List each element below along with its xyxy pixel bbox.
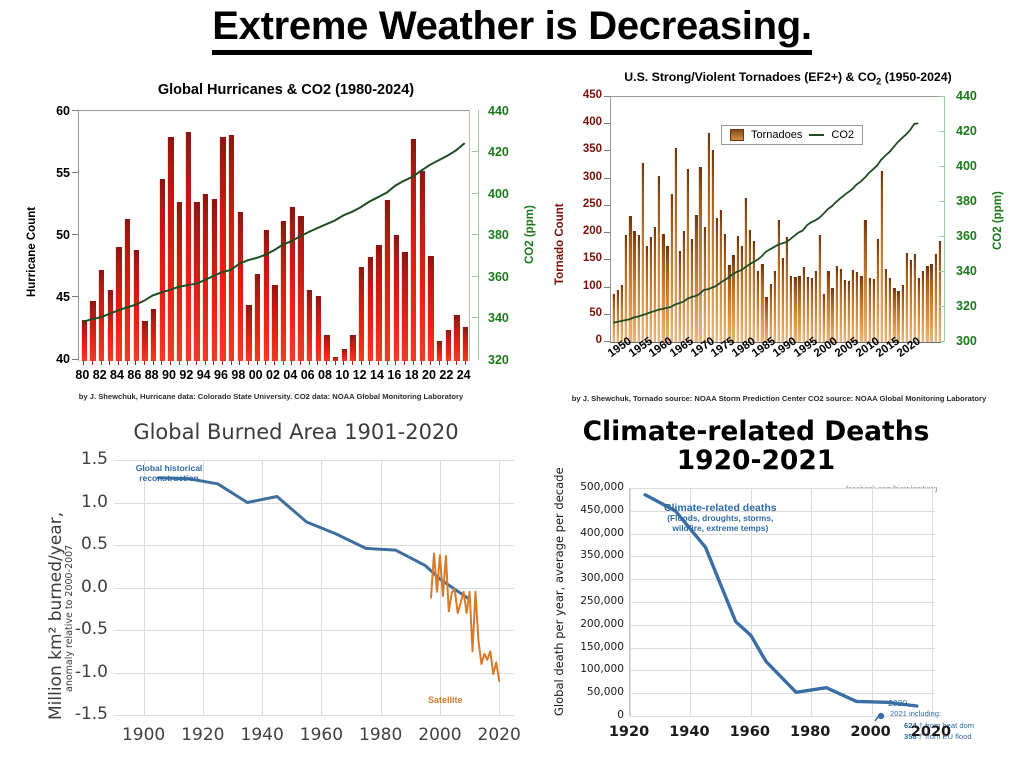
chart2-y2tick-380: 380 (956, 194, 977, 208)
chart3-ytick--1.0: -1.0 (56, 662, 108, 682)
chart2-ytick-0: 0 (562, 334, 602, 346)
chart1-xtick-24: 24 (453, 368, 475, 382)
chart4-annotation-sub2: wildfire, extreme temps) (664, 524, 777, 534)
chart4-xtick-1920: 1920 (601, 724, 657, 740)
chart4-marker-icon (874, 710, 888, 722)
chart3-ytick-0.0: 0.0 (56, 577, 108, 597)
chart2-y2tick-360: 360 (956, 229, 977, 243)
chart1-ytick-3: 45 (38, 290, 70, 304)
chart4-annotation-2021: 2021 including: (890, 709, 941, 719)
chart3-title: Global Burned Area 1901-2020 (56, 420, 536, 444)
chart1-title: Global Hurricanes & CO2 (1980-2024) (46, 82, 526, 98)
chart3-ytick--0.5: -0.5 (56, 619, 108, 639)
chart4-annotation: Climate-related deaths (Floods, droughts… (664, 502, 777, 534)
chart2-y2tick-420: 420 (956, 124, 977, 138)
chart4-xtick-1980: 1980 (782, 724, 838, 740)
chart-us-tornadoes: U.S. Strong/Violent Tornadoes (EF2+) & C… (540, 70, 1018, 415)
chart1-y2tick-0: 440 (488, 104, 509, 118)
chart4-ytick-0: 0 (562, 709, 624, 721)
chart2-ytick-350: 350 (562, 143, 602, 155)
chart2-y2tick-400: 400 (956, 159, 977, 173)
chart1-ytick-1: 55 (38, 166, 70, 180)
chart2-credit: by J. Shewchuk, Tornado source: NOAA Sto… (540, 394, 1018, 403)
chart-global-hurricanes: Global Hurricanes & CO2 (1980-2024) Hurr… (16, 82, 526, 412)
chart4-title-line1: Climate-related Deaths (536, 418, 976, 447)
chart3-plot-area (114, 460, 514, 715)
chart2-y2tick-320: 320 (956, 299, 977, 313)
chart-climate-related-deaths: Climate-related Deaths 1920-2021 faceboo… (536, 418, 1024, 767)
chart1-ytick-4: 40 (38, 352, 70, 366)
page-title-text: Extreme Weather is Decreasing. (212, 4, 811, 55)
chart4-xtick-1960: 1960 (722, 724, 778, 740)
chart4-title-line2: 1920-2021 (536, 447, 976, 476)
chart3-ytick--1.5: -1.5 (56, 704, 108, 724)
chart4-xtick-1940: 1940 (661, 724, 717, 740)
chart4-ytick-200,000: 200,000 (562, 618, 624, 630)
chart1-ytick-2: 50 (38, 228, 70, 242)
chart4-ytick-450,000: 450,000 (562, 504, 624, 516)
chart4-annotation-2020: 2020 (888, 698, 907, 708)
chart3-ytick-0.5: 0.5 (56, 534, 108, 554)
chart3-xtick-1940: 1940 (234, 725, 290, 745)
chart2-title-suffix: (1950-2024) (881, 70, 951, 84)
chart1-ytick-0: 60 (38, 104, 70, 118)
chart2-y2tick-300: 300 (956, 334, 977, 348)
chart4-ytick-300,000: 300,000 (562, 572, 624, 584)
chart2-ytick-250: 250 (562, 198, 602, 210)
chart2-ytick-400: 400 (562, 116, 602, 128)
chart2-ytick-100: 100 (562, 280, 602, 292)
chart1-y-axis-label: Hurricane Count (26, 207, 38, 297)
chart4-ytick-150,000: 150,000 (562, 641, 624, 653)
chart1-y2tick-5: 340 (488, 311, 509, 325)
chart3-annotation-reconstruction: Global historical reconstruction (124, 464, 214, 483)
chart2-ytick-300: 300 (562, 171, 602, 183)
chart3-xtick-2020: 2020 (471, 725, 527, 745)
chart1-y2tick-4: 360 (488, 270, 509, 284)
chart4-ytick-400,000: 400,000 (562, 527, 624, 539)
chart4-ytick-100,000: 100,000 (562, 663, 624, 675)
chart2-title: U.S. Strong/Violent Tornadoes (EF2+) & C… (558, 70, 1018, 86)
chart2-ytick-200: 200 (562, 225, 602, 237)
chart3-xtick-1920: 1920 (175, 725, 231, 745)
chart2-ytick-50: 50 (562, 307, 602, 319)
chart3-annotation-satellite: Satellite (428, 695, 463, 705)
chart3-xtick-1960: 1960 (293, 725, 349, 745)
chart1-y2-axis-label: CO2 (ppm) (524, 205, 536, 264)
chart2-plot-area: Tornadoes CO2 (610, 96, 941, 343)
chart3-xtick-1980: 1980 (353, 725, 409, 745)
chart4-ytick-50,000: 50,000 (562, 686, 624, 698)
chart2-co2-line (611, 97, 941, 342)
chart4-title: Climate-related Deaths 1920-2021 (536, 418, 976, 475)
chart3-annotation-line1: Global historical (136, 463, 203, 473)
chart2-y2tick-340: 340 (956, 264, 977, 278)
chart4-ytick-350,000: 350,000 (562, 549, 624, 561)
chart2-y2-axis-label: CO2 (ppm) (992, 191, 1004, 250)
chart4-ytick-500,000: 500,000 (562, 481, 624, 493)
chart1-y2tick-1: 420 (488, 145, 509, 159)
chart3-xtick-2000: 2000 (412, 725, 468, 745)
page-title: Extreme Weather is Decreasing. (0, 4, 1024, 55)
chart4-xtick-2000: 2000 (843, 724, 899, 740)
chart3-xtick-1900: 1900 (116, 725, 172, 745)
chart2-title-prefix: U.S. Strong/Violent Tornadoes (EF2+) & C… (624, 70, 876, 84)
chart1-plot-area (78, 110, 470, 361)
chart2-ytick-450: 450 (562, 89, 602, 101)
chart1-credit: by J. Shewchuk, Hurricane data: Colorado… (16, 392, 526, 401)
chart3-ytick-1.0: 1.0 (56, 492, 108, 512)
chart1-y2tick-3: 380 (488, 228, 509, 242)
chart4-ytick-250,000: 250,000 (562, 595, 624, 607)
chart2-ytick-150: 150 (562, 252, 602, 264)
chart4-xtick-2020: 2020 (903, 724, 959, 740)
chart3-ytick-1.5: 1.5 (56, 449, 108, 469)
chart3-annotation-line2: reconstruction (139, 473, 199, 483)
chart-global-burned-area: Global Burned Area 1901-2020 Million km²… (16, 420, 536, 765)
chart3-lines (114, 460, 514, 715)
chart1-co2-line (79, 111, 469, 361)
chart1-y2tick-2: 400 (488, 187, 509, 201)
chart1-y2tick-6: 320 (488, 353, 509, 367)
chart2-y2tick-440: 440 (956, 89, 977, 103)
chart2-y-axis-label: Tornado Count (554, 203, 566, 285)
